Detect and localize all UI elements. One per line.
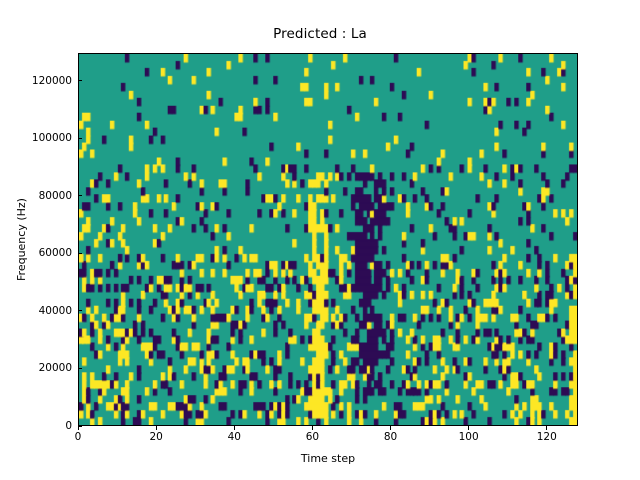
- x-tick-label: 20: [126, 431, 186, 443]
- x-tick-mark: [312, 426, 313, 430]
- y-tick-mark: [78, 195, 82, 196]
- heatmap-image: [79, 54, 577, 425]
- x-tick-label: 120: [517, 431, 577, 443]
- x-tick-mark: [468, 426, 469, 430]
- figure-canvas: Predicted : La 0200004000060000800001000…: [0, 0, 640, 480]
- y-tick-label: 20000: [39, 360, 72, 376]
- y-tick-label: 60000: [39, 245, 72, 261]
- x-tick-mark: [78, 426, 79, 430]
- y-tick-label: 80000: [39, 188, 72, 204]
- y-tick-mark: [78, 80, 82, 81]
- x-tick-mark: [234, 426, 235, 430]
- heatmap-plot-area[interactable]: [78, 53, 578, 426]
- y-tick-mark: [78, 253, 82, 254]
- x-tick-label: 40: [204, 431, 264, 443]
- y-tick-mark: [78, 310, 82, 311]
- x-axis-label: Time step: [78, 452, 578, 465]
- page-title: Predicted : La: [0, 26, 640, 42]
- y-tick-label: 40000: [39, 303, 72, 319]
- y-axis-label: Frequency (Hz): [15, 53, 28, 426]
- y-tick-label: 120000: [32, 73, 72, 89]
- y-tick-mark: [78, 138, 82, 139]
- y-tick-label: 100000: [32, 130, 72, 146]
- x-tick-mark: [156, 426, 157, 430]
- x-tick-label: 60: [282, 431, 342, 443]
- y-axis-ticks: 020000400006000080000100000120000: [0, 0, 78, 480]
- x-tick-label: 100: [439, 431, 499, 443]
- x-tick-label: 80: [361, 431, 421, 443]
- y-tick-mark: [78, 368, 82, 369]
- x-tick-label: 0: [48, 431, 108, 443]
- x-tick-mark: [546, 426, 547, 430]
- x-tick-mark: [390, 426, 391, 430]
